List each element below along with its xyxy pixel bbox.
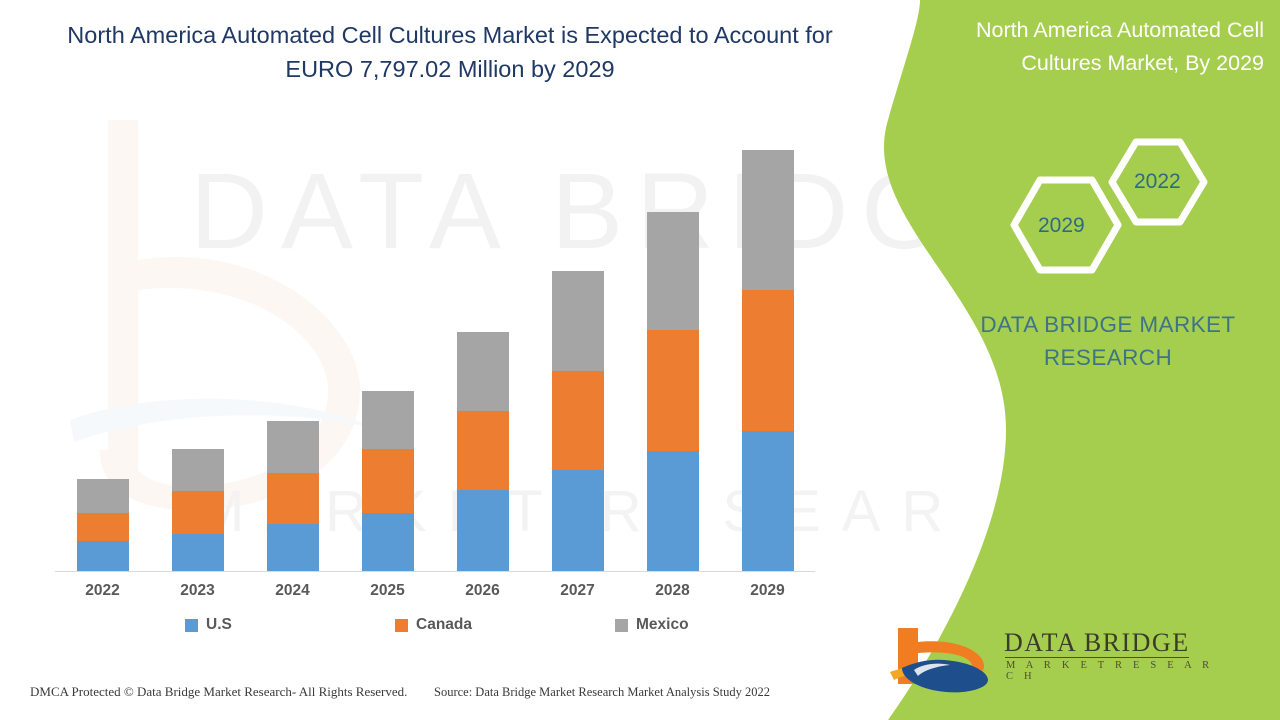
x-label-2024: 2024 — [245, 582, 340, 600]
dmca-notice: DMCA Protected © Data Bridge Market Rese… — [30, 684, 407, 700]
x-label-2022: 2022 — [55, 582, 150, 600]
bar-group-2029[interactable] — [720, 150, 815, 571]
bar-segment-canada-2024[interactable] — [267, 473, 319, 524]
bar-segment-canada-2028[interactable] — [647, 330, 699, 450]
x-label-2026: 2026 — [435, 582, 530, 600]
source-note: Source: Data Bridge Market Research Mark… — [434, 685, 770, 700]
bar-segment-mexico-2029[interactable] — [742, 150, 794, 290]
bar-group-2022[interactable] — [55, 150, 150, 571]
bar-segment-canada-2023[interactable] — [172, 491, 224, 533]
bar-group-2025[interactable] — [340, 150, 435, 571]
legend-label-canada: Canada — [416, 616, 472, 634]
brand-text: DATA BRIDGE MARKET RESEARCH — [948, 308, 1268, 374]
bar-segment-mexico-2023[interactable] — [172, 449, 224, 491]
bar-segment-us-2029[interactable] — [742, 431, 794, 571]
hex-badge-2022-label: 2022 — [1134, 170, 1181, 194]
x-label-2025: 2025 — [340, 582, 435, 600]
bar-segment-us-2023[interactable] — [172, 534, 224, 571]
bar-segment-mexico-2022[interactable] — [77, 479, 129, 513]
bar-group-2023[interactable] — [150, 150, 245, 571]
bar-segment-canada-2026[interactable] — [457, 411, 509, 491]
x-axis-line — [55, 571, 815, 572]
bar-group-2026[interactable] — [435, 150, 530, 571]
chart-plot-area — [55, 150, 815, 572]
legend-swatch-mexico — [615, 619, 628, 632]
logo-tagline: M A R K E T R E S E A R C H — [1006, 660, 1228, 682]
bar-segment-us-2024[interactable] — [267, 524, 319, 571]
x-label-2029: 2029 — [720, 582, 815, 600]
x-label-2023: 2023 — [150, 582, 245, 600]
bar-segment-canada-2025[interactable] — [362, 449, 414, 512]
legend-item-us[interactable]: U.S — [185, 616, 232, 634]
hex-badge-svg — [958, 122, 1258, 302]
legend-label-us: U.S — [206, 616, 232, 634]
bar-segment-us-2027[interactable] — [552, 470, 604, 571]
bar-segment-mexico-2028[interactable] — [647, 212, 699, 330]
bar-segment-canada-2027[interactable] — [552, 371, 604, 470]
hex-badge-group: 2022 2029 — [958, 122, 1258, 302]
data-bridge-logo-mark — [888, 622, 998, 694]
bar-segment-mexico-2025[interactable] — [362, 391, 414, 449]
chart-title: North America Automated Cell Cultures Ma… — [40, 18, 860, 86]
x-label-2028: 2028 — [625, 582, 720, 600]
bar-group-2024[interactable] — [245, 150, 340, 571]
panel-title: North America Automated Cell Cultures Ma… — [924, 14, 1264, 80]
chart-legend: U.SCanadaMexico — [55, 616, 815, 642]
x-label-2027: 2027 — [530, 582, 625, 600]
x-axis-labels: 20222023202420252026202720282029 — [55, 582, 815, 606]
data-bridge-logo: DATA BRIDGE M A R K E T R E S E A R C H — [888, 622, 1228, 694]
bar-group-2028[interactable] — [625, 150, 720, 571]
hex-badge-2029-label: 2029 — [1038, 214, 1085, 238]
bar-group-2027[interactable] — [530, 150, 625, 571]
legend-swatch-us — [185, 619, 198, 632]
chart-panel: DATA BRIDGE MARKET RESEARCH North Americ… — [0, 0, 940, 720]
legend-swatch-canada — [395, 619, 408, 632]
bar-segment-mexico-2024[interactable] — [267, 421, 319, 472]
bar-segment-mexico-2027[interactable] — [552, 271, 604, 372]
legend-item-mexico[interactable]: Mexico — [615, 616, 689, 634]
bar-segment-us-2025[interactable] — [362, 513, 414, 571]
bar-segment-us-2022[interactable] — [77, 541, 129, 571]
logo-wordmark: DATA BRIDGE — [1004, 628, 1190, 658]
bar-segment-us-2026[interactable] — [457, 490, 509, 571]
bar-segment-canada-2029[interactable] — [742, 290, 794, 430]
legend-item-canada[interactable]: Canada — [395, 616, 472, 634]
bar-segment-mexico-2026[interactable] — [457, 332, 509, 410]
branding-panel: North America Automated Cell Cultures Ma… — [828, 0, 1280, 720]
bar-segment-canada-2022[interactable] — [77, 513, 129, 541]
legend-label-mexico: Mexico — [636, 616, 689, 634]
bar-segment-us-2028[interactable] — [647, 451, 699, 571]
